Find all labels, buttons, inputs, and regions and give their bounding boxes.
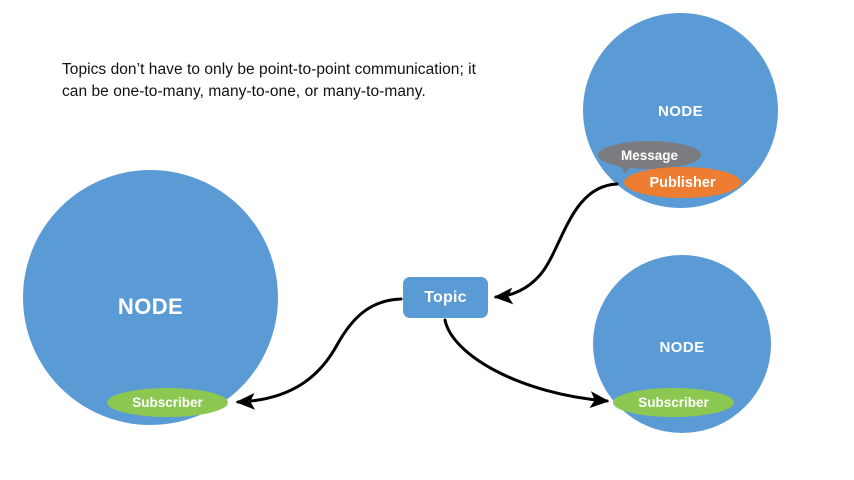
- arrow-topic-to-left-subscriber: [238, 299, 401, 402]
- connector-arrows-layer: [0, 0, 854, 480]
- arrow-publisher-to-topic: [496, 184, 617, 297]
- arrow-topic-to-right-subscriber: [445, 320, 607, 401]
- diagram-canvas: Topics don’t have to only be point-to-po…: [0, 0, 854, 480]
